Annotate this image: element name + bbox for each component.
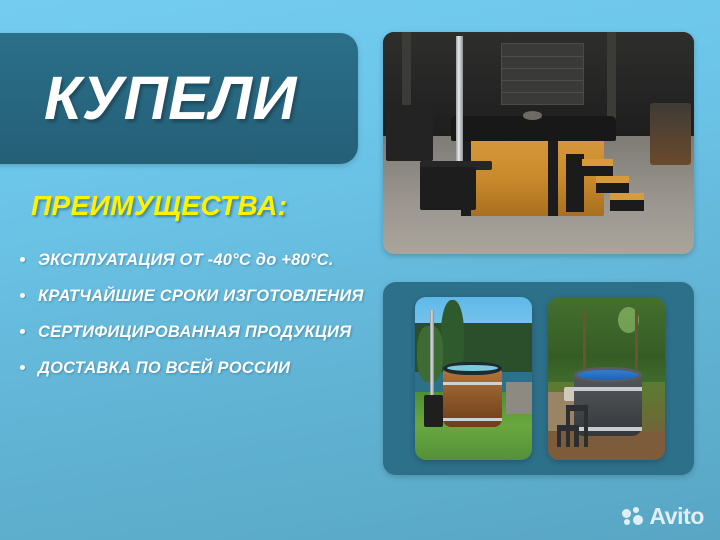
list-item: СЕРТИФИЦИРОВАННАЯ ПРОДУКЦИЯ: [12, 322, 372, 342]
avito-brand-label: Avito: [649, 505, 704, 528]
wood-stove: [424, 395, 443, 428]
tub-water: [447, 365, 498, 372]
advantages-heading: ПРЕИМУЩЕСТВА:: [31, 192, 287, 220]
side-barrel-right: [650, 103, 690, 165]
list-item: ДОСТАВКА ПО ВСЕЙ РОССИИ: [12, 358, 372, 378]
tub-corner-right: [548, 132, 559, 216]
promo-poster: КУПЕЛИ ПРЕИМУЩЕСТВА: ЭКСПЛУАТАЦИЯ ОТ -40…: [0, 0, 720, 540]
advantages-list: ЭКСПЛУАТАЦИЯ ОТ -40°C до +80°C. КРАТЧАЙШ…: [12, 250, 372, 378]
hero-photo-scene: [383, 32, 694, 254]
list-item: ЭКСПЛУАТАЦИЯ ОТ -40°C до +80°C.: [12, 250, 372, 270]
tub-metal-band: [443, 418, 502, 422]
chimney-pipe: [430, 310, 434, 405]
wood-stove: [420, 167, 476, 209]
tub-lid-knob: [523, 111, 542, 120]
avito-watermark: Avito: [622, 505, 704, 528]
photo-round-wooden-tub: [415, 297, 532, 460]
chimney-pipe: [456, 36, 463, 165]
tub-steps: [557, 405, 587, 447]
page-title: КУПЕЛИ: [44, 68, 297, 129]
title-banner: КУПЕЛИ: [0, 33, 358, 164]
tub-lid: [451, 116, 616, 140]
list-item: КРАТЧАЙШИЕ СРОКИ ИЗГОТОВЛЕНИЯ: [12, 286, 372, 306]
tub-metal-band: [443, 382, 502, 386]
photo-round-grey-tub: [548, 297, 665, 460]
wall-panel: [501, 43, 584, 105]
tub-metal-band: [574, 387, 642, 391]
avito-dots-icon: [622, 507, 644, 527]
paved-path: [506, 382, 532, 415]
blue-liner-water: [577, 370, 638, 381]
side-equipment-left: [386, 105, 433, 161]
tub-steps: [566, 154, 644, 212]
hero-photo-square-hot-tub: [383, 32, 694, 254]
